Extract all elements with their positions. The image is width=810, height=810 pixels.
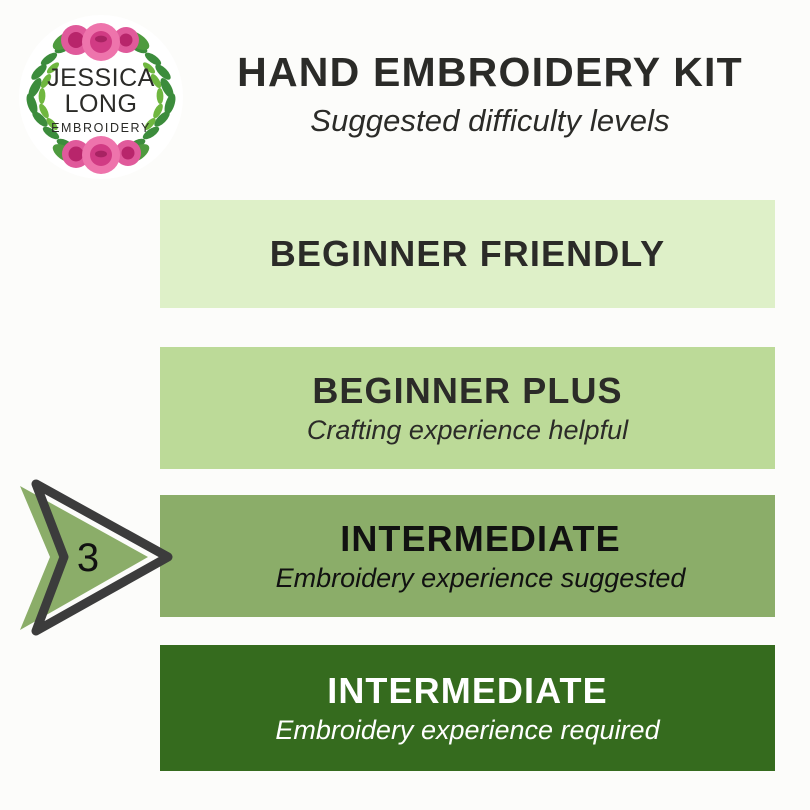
page-subtitle: Suggested difficulty levels: [195, 103, 785, 139]
level-note-4: Embroidery experience required: [275, 714, 659, 746]
logo-line-2: LONG: [65, 90, 138, 118]
difficulty-level-row-1[interactable]: BEGINNER FRIENDLY: [160, 200, 775, 308]
marker-number: 3: [77, 536, 99, 580]
brand-logo: JESSICA LONG EMBROIDERY: [18, 14, 184, 180]
logo-line-3: EMBROIDERY: [51, 121, 151, 135]
level-name-2: BEGINNER PLUS: [312, 370, 622, 412]
difficulty-level-row-2[interactable]: BEGINNER PLUS Crafting experience helpfu…: [160, 347, 775, 469]
header: HAND EMBROIDERY KIT Suggested difficulty…: [195, 50, 785, 139]
level-name-1: BEGINNER FRIENDLY: [270, 233, 665, 275]
level-note-2: Crafting experience helpful: [307, 414, 628, 446]
logo-line-1: JESSICA: [47, 64, 155, 92]
level-name-3: INTERMEDIATE: [340, 518, 621, 560]
difficulty-levels-infographic: JESSICA LONG EMBROIDERY HAND EMBROIDERY …: [0, 0, 810, 810]
selected-level-marker: 3: [8, 478, 180, 638]
level-note-3: Embroidery experience suggested: [276, 562, 686, 594]
level-name-4: INTERMEDIATE: [327, 670, 608, 712]
difficulty-level-row-3[interactable]: INTERMEDIATE Embroidery experience sugge…: [160, 495, 775, 617]
page-title: HAND EMBROIDERY KIT: [195, 50, 785, 96]
difficulty-level-row-4[interactable]: INTERMEDIATE Embroidery experience requi…: [160, 645, 775, 771]
